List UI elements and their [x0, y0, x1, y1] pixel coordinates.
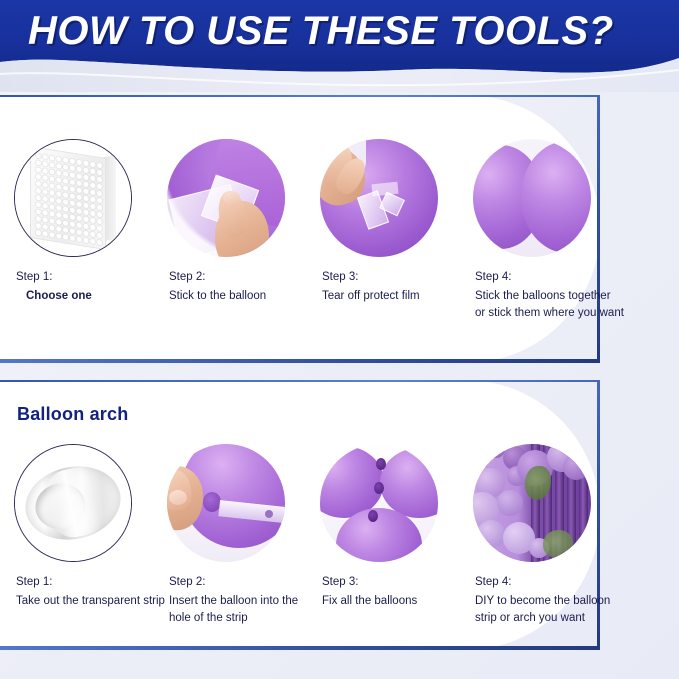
step-label: Step 1:	[16, 574, 176, 591]
step-label: Step 4:	[475, 574, 635, 591]
step-label: Step 3:	[322, 269, 482, 286]
thumb-stick-film-to-balloon	[167, 139, 285, 257]
step-caption: Step 2: Stick to the balloon	[169, 269, 329, 305]
step-text: Tear off protect film	[322, 288, 482, 305]
glue-dot-sheet-icon	[30, 152, 116, 244]
step-label: Step 4:	[475, 269, 635, 286]
step-cell: Step 4: Stick the balloons together or s…	[467, 97, 620, 359]
step-cell: Step 1: Take out the transparent strip	[8, 382, 161, 646]
thumb-fix-all-balloons	[320, 444, 438, 562]
thumb-insert-balloon-into-strip	[167, 444, 285, 562]
thumb-balloon-arch	[473, 444, 591, 562]
panel-balloon-arch: Balloon arch Step 1: Take out the	[0, 380, 600, 650]
step-label: Step 3:	[322, 574, 482, 591]
instruction-graphic: HOW TO USE THESE TOOLS? Step 1: C	[0, 0, 679, 679]
step-text: Take out the transparent strip	[16, 593, 176, 610]
panel-glue-dots: Step 1: Choose one	[0, 95, 600, 363]
step-label: Step 2:	[169, 574, 329, 591]
step-caption: Step 1: Choose one	[16, 269, 176, 305]
step-text: Insert the balloon into the hole of the …	[169, 593, 329, 626]
step-cell: Step 3: Fix all the balloons	[314, 382, 467, 646]
step-text: Choose one	[16, 288, 176, 305]
thumb-balloons-stuck-together	[473, 139, 591, 257]
thumb-glue-dot-sheet	[14, 139, 132, 257]
step-text: DIY to become the balloon strip or arch …	[475, 593, 635, 626]
thumb-transparent-strip-roll	[14, 444, 132, 562]
step-label: Step 2:	[169, 269, 329, 286]
step-text: Fix all the balloons	[322, 593, 482, 610]
step-caption: Step 3: Fix all the balloons	[322, 574, 482, 610]
step-caption: Step 1: Take out the transparent strip	[16, 574, 176, 610]
thumb-tear-off-film	[320, 139, 438, 257]
step-cell: Step 4: DIY to become the balloon strip …	[467, 382, 620, 646]
step-caption: Step 4: DIY to become the balloon strip …	[475, 574, 635, 627]
page-title: HOW TO USE THESE TOOLS?	[28, 9, 614, 54]
step-text: Stick to the balloon	[169, 288, 329, 305]
step-cell: Step 2: Insert the balloon into the hole…	[161, 382, 314, 646]
step-caption: Step 3: Tear off protect film	[322, 269, 482, 305]
step-caption: Step 4: Stick the balloons together or s…	[475, 269, 635, 322]
step-label: Step 1:	[16, 269, 176, 286]
step-caption: Step 2: Insert the balloon into the hole…	[169, 574, 329, 627]
header-banner: HOW TO USE THESE TOOLS?	[0, 0, 679, 92]
step-text: Stick the balloons together or stick the…	[475, 288, 635, 321]
step-cell: Step 1: Choose one	[8, 97, 161, 359]
step-cell: Step 3: Tear off protect film	[314, 97, 467, 359]
step-cell: Step 2: Stick to the balloon	[161, 97, 314, 359]
